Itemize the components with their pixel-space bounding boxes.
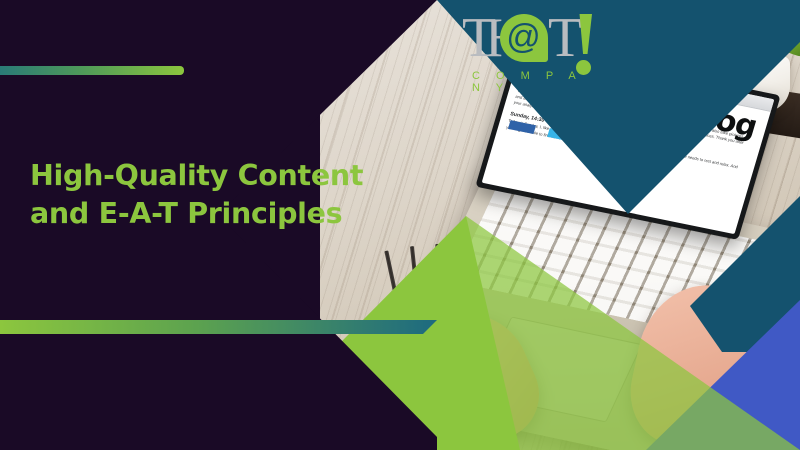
page-title-line1: High-Quality Content — [30, 159, 363, 192]
logo-wordmark: T H @ T — [462, 8, 598, 68]
promo-banner: blog Monday, 12:40 Today, I am going to … — [0, 0, 800, 450]
accent-rule-bottom — [0, 320, 437, 334]
logo-letter-t: T — [548, 8, 583, 68]
page-title: High-Quality Content and E-A-T Principle… — [30, 157, 420, 233]
that-company-logo[interactable]: T H @ T C O M P A N Y — [462, 8, 598, 94]
accent-rule-top — [0, 66, 184, 75]
logo-company-word: C O M P A N Y — [472, 70, 598, 94]
page-title-line2: and E-A-T Principles — [30, 195, 420, 233]
logo-at-icon: @ — [500, 14, 548, 62]
